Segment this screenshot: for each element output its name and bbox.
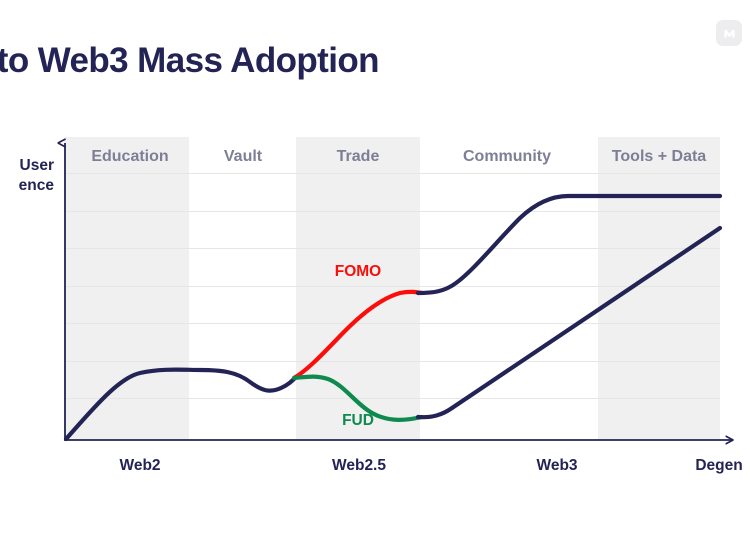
phase-bands: [64, 137, 720, 440]
phase-label-vault: Vault: [224, 148, 262, 166]
phase-label-education: Education: [91, 148, 168, 166]
annotation-fomo: FOMO: [335, 263, 382, 281]
phase-band-tools-data: [598, 137, 720, 440]
phase-label-tools-data: Tools + Data: [612, 148, 706, 166]
phase-band-trade: [296, 137, 420, 440]
stage-label-web3: Web3: [536, 457, 577, 475]
stage-label-web2: Web2: [119, 457, 160, 475]
stage-label-degen: Degen: [695, 457, 742, 475]
annotation-fud: FUD: [342, 412, 374, 430]
phase-label-community: Community: [463, 148, 551, 166]
stage-label-web25: Web2.5: [332, 457, 386, 475]
phase-label-trade: Trade: [337, 148, 380, 166]
slide-canvas: b2 to Web3 Mass Adoption User ence: [0, 0, 750, 536]
phase-band-education: [64, 137, 189, 440]
